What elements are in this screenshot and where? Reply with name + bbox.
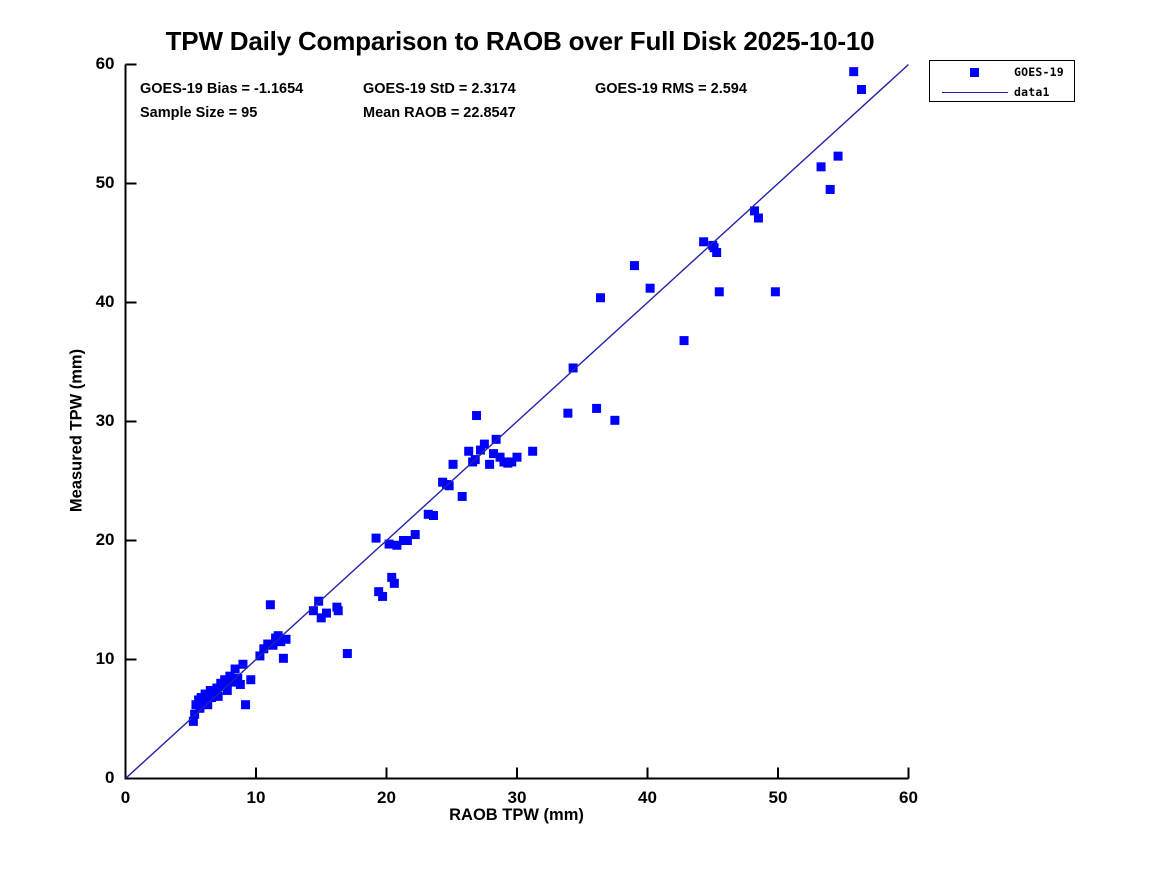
scatter-point <box>238 660 247 669</box>
scatter-point <box>563 409 572 418</box>
scatter-point <box>322 609 331 618</box>
y-tick-label: 0 <box>69 768 115 788</box>
scatter-point <box>480 440 489 449</box>
scatter-point <box>592 404 601 413</box>
scatter-point <box>596 293 605 302</box>
scatter-point <box>817 162 826 171</box>
legend-entry-goes19: GOES-19 <box>930 62 1074 82</box>
scatter-point <box>857 85 866 94</box>
legend-line-icon <box>942 92 1008 93</box>
scatter-point <box>513 453 522 462</box>
legend-marker-icon <box>970 68 979 77</box>
scatter-point <box>241 700 250 709</box>
scatter-point <box>403 536 412 545</box>
chart-figure: TPW Daily Comparison to RAOB over Full D… <box>0 0 1167 875</box>
scatter-point <box>715 287 724 296</box>
scatter-point <box>849 67 858 76</box>
scatter-point <box>826 185 835 194</box>
x-tick-label: 40 <box>625 788 671 808</box>
scatter-point <box>411 530 420 539</box>
scatter-point <box>464 447 473 456</box>
y-tick-label: 10 <box>69 649 115 669</box>
scatter-point <box>834 152 843 161</box>
scatter-point <box>610 416 619 425</box>
scatter-point <box>343 649 352 658</box>
scatter-point <box>699 237 708 246</box>
fit-line <box>126 65 909 779</box>
scatter-point <box>485 460 494 469</box>
y-tick-label: 40 <box>69 292 115 312</box>
y-tick-label: 20 <box>69 530 115 550</box>
scatter-point <box>754 214 763 223</box>
scatter-point <box>390 579 399 588</box>
scatter-point <box>266 600 275 609</box>
scatter-point <box>528 447 537 456</box>
chart-legend: GOES-19 data1 <box>929 60 1075 102</box>
scatter-point <box>279 654 288 663</box>
legend-label-data1: data1 <box>1014 85 1050 99</box>
y-tick-label: 60 <box>69 54 115 74</box>
scatter-point <box>646 284 655 293</box>
y-tick-label: 50 <box>69 173 115 193</box>
scatter-point <box>378 592 387 601</box>
scatter-point <box>236 680 245 689</box>
scatter-point <box>429 511 438 520</box>
legend-label-goes19: GOES-19 <box>1014 65 1064 79</box>
scatter-series-goes19 <box>189 67 866 726</box>
x-tick-label: 50 <box>755 788 801 808</box>
scatter-point <box>680 336 689 345</box>
scatter-point <box>223 686 232 695</box>
scatter-point <box>334 606 343 615</box>
scatter-point <box>282 635 291 644</box>
scatter-point <box>630 261 639 270</box>
x-tick-label: 0 <box>103 788 149 808</box>
scatter-point <box>449 460 458 469</box>
x-tick-label: 10 <box>233 788 279 808</box>
scatter-point <box>372 534 381 543</box>
scatter-point <box>458 492 467 501</box>
legend-entry-data1: data1 <box>930 82 1074 102</box>
x-tick-label: 60 <box>886 788 932 808</box>
scatter-point <box>246 675 255 684</box>
scatter-point <box>231 665 240 674</box>
plot-area <box>0 0 1167 875</box>
scatter-point <box>472 411 481 420</box>
x-tick-label: 30 <box>494 788 540 808</box>
y-tick-label: 30 <box>69 411 115 431</box>
scatter-point <box>712 248 721 257</box>
x-tick-label: 20 <box>364 788 410 808</box>
scatter-point <box>771 287 780 296</box>
